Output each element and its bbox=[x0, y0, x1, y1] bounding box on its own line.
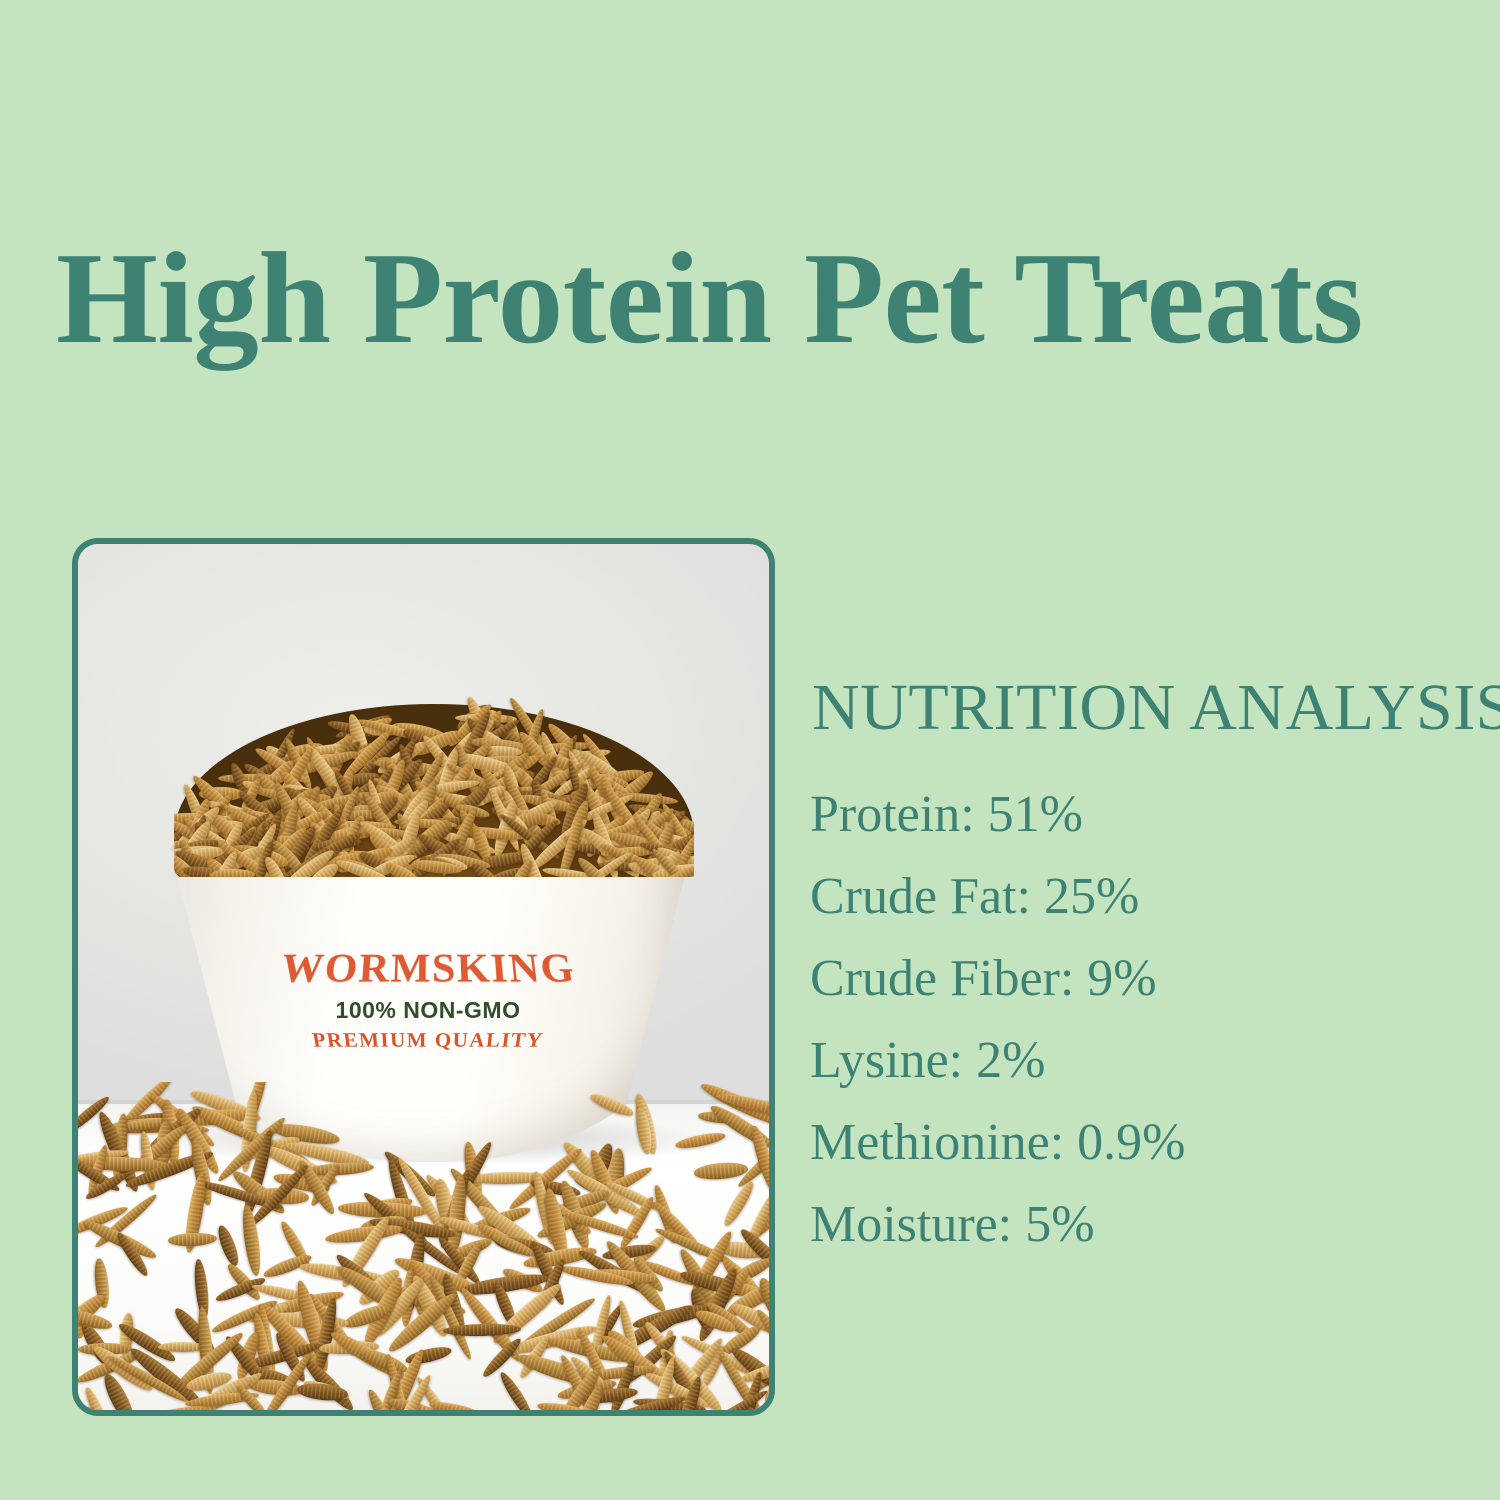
nutrition-row: Crude Fiber: 9% bbox=[810, 938, 1470, 1020]
nutrition-row: Crude Fat: 25% bbox=[810, 856, 1470, 938]
mealworm bbox=[210, 869, 255, 877]
mealworm-pile bbox=[174, 682, 694, 877]
mealworm bbox=[215, 1223, 242, 1267]
nutrition-row: Methionine: 0.9% bbox=[810, 1102, 1470, 1184]
product-photo-frame: WORMSKING 100% NON-GMO PREMIUM QUALITY bbox=[72, 538, 775, 1416]
nutrition-row: Protein: 51% bbox=[810, 774, 1470, 856]
mealworm bbox=[429, 1400, 480, 1410]
product-photo: WORMSKING 100% NON-GMO PREMIUM QUALITY bbox=[78, 544, 769, 1410]
nutrition-row: Moisture: 5% bbox=[810, 1184, 1470, 1266]
page-title: High Protein Pet Treats bbox=[56, 234, 1460, 364]
mealworm bbox=[497, 1369, 536, 1410]
nutrition-row: Lysine: 2% bbox=[810, 1020, 1470, 1102]
mealworm bbox=[167, 1232, 217, 1248]
mealworm bbox=[296, 1382, 349, 1403]
nutrition-analysis-list: Protein: 51%Crude Fat: 25%Crude Fiber: 9… bbox=[810, 774, 1470, 1266]
mealworm bbox=[693, 1161, 748, 1181]
product-infographic: High Protein Pet Treats WORMSKING 100% N… bbox=[0, 0, 1500, 1500]
nutrition-analysis-heading: NUTRITION ANALYSIS bbox=[812, 673, 1500, 743]
